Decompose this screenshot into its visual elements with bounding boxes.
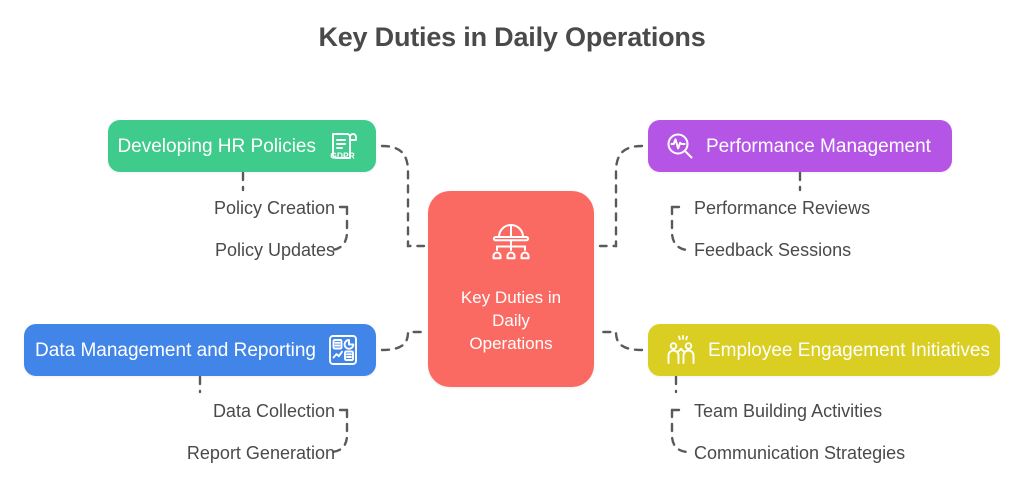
center-node-text: Key Duties in Daily Operations — [461, 287, 561, 356]
center-line-2: Daily — [461, 310, 561, 333]
sub-item-performance-reviews[interactable]: Performance Reviews — [694, 198, 870, 219]
sub-item-data-collection[interactable]: Data Collection — [60, 401, 335, 422]
sub-item-team-building[interactable]: Team Building Activities — [694, 401, 882, 422]
sub-item-feedback-sessions[interactable]: Feedback Sessions — [694, 240, 851, 261]
page-title: Key Duties in Daily Operations — [0, 22, 1024, 53]
dashboard-report-icon — [326, 333, 360, 367]
sub-item-policy-creation[interactable]: Policy Creation — [60, 198, 335, 219]
branch-node-performance-management[interactable]: Performance Management — [648, 120, 952, 172]
branch-label-hr-policies: Developing HR Policies — [117, 137, 316, 156]
center-line-1: Key Duties in — [461, 287, 561, 310]
svg-text:GDPR: GDPR — [330, 151, 355, 161]
branch-label-performance-management: Performance Management — [706, 137, 931, 156]
branch-label-employee-engagement: Employee Engagement Initiatives — [708, 341, 990, 360]
center-line-3: Operations — [461, 333, 561, 356]
branch-node-employee-engagement[interactable]: Employee Engagement Initiatives — [648, 324, 1000, 376]
gdpr-document-icon: GDPR — [326, 129, 360, 163]
branch-node-data-management[interactable]: Data Management and Reporting — [24, 324, 376, 376]
branch-label-data-management: Data Management and Reporting — [35, 341, 316, 360]
sub-item-communication-strategies[interactable]: Communication Strategies — [694, 443, 905, 464]
pulse-magnifier-icon — [664, 130, 696, 162]
sub-item-report-generation[interactable]: Report Generation — [60, 443, 335, 464]
sub-item-policy-updates[interactable]: Policy Updates — [60, 240, 335, 261]
people-celebrating-icon — [664, 333, 698, 367]
mindmap-canvas: Key Duties in Daily Operations — [0, 0, 1024, 498]
branch-node-hr-policies[interactable]: Developing HR Policies GDPR — [108, 120, 376, 172]
hard-hat-hierarchy-icon — [484, 222, 538, 277]
center-node[interactable]: Key Duties in Daily Operations — [428, 191, 594, 387]
